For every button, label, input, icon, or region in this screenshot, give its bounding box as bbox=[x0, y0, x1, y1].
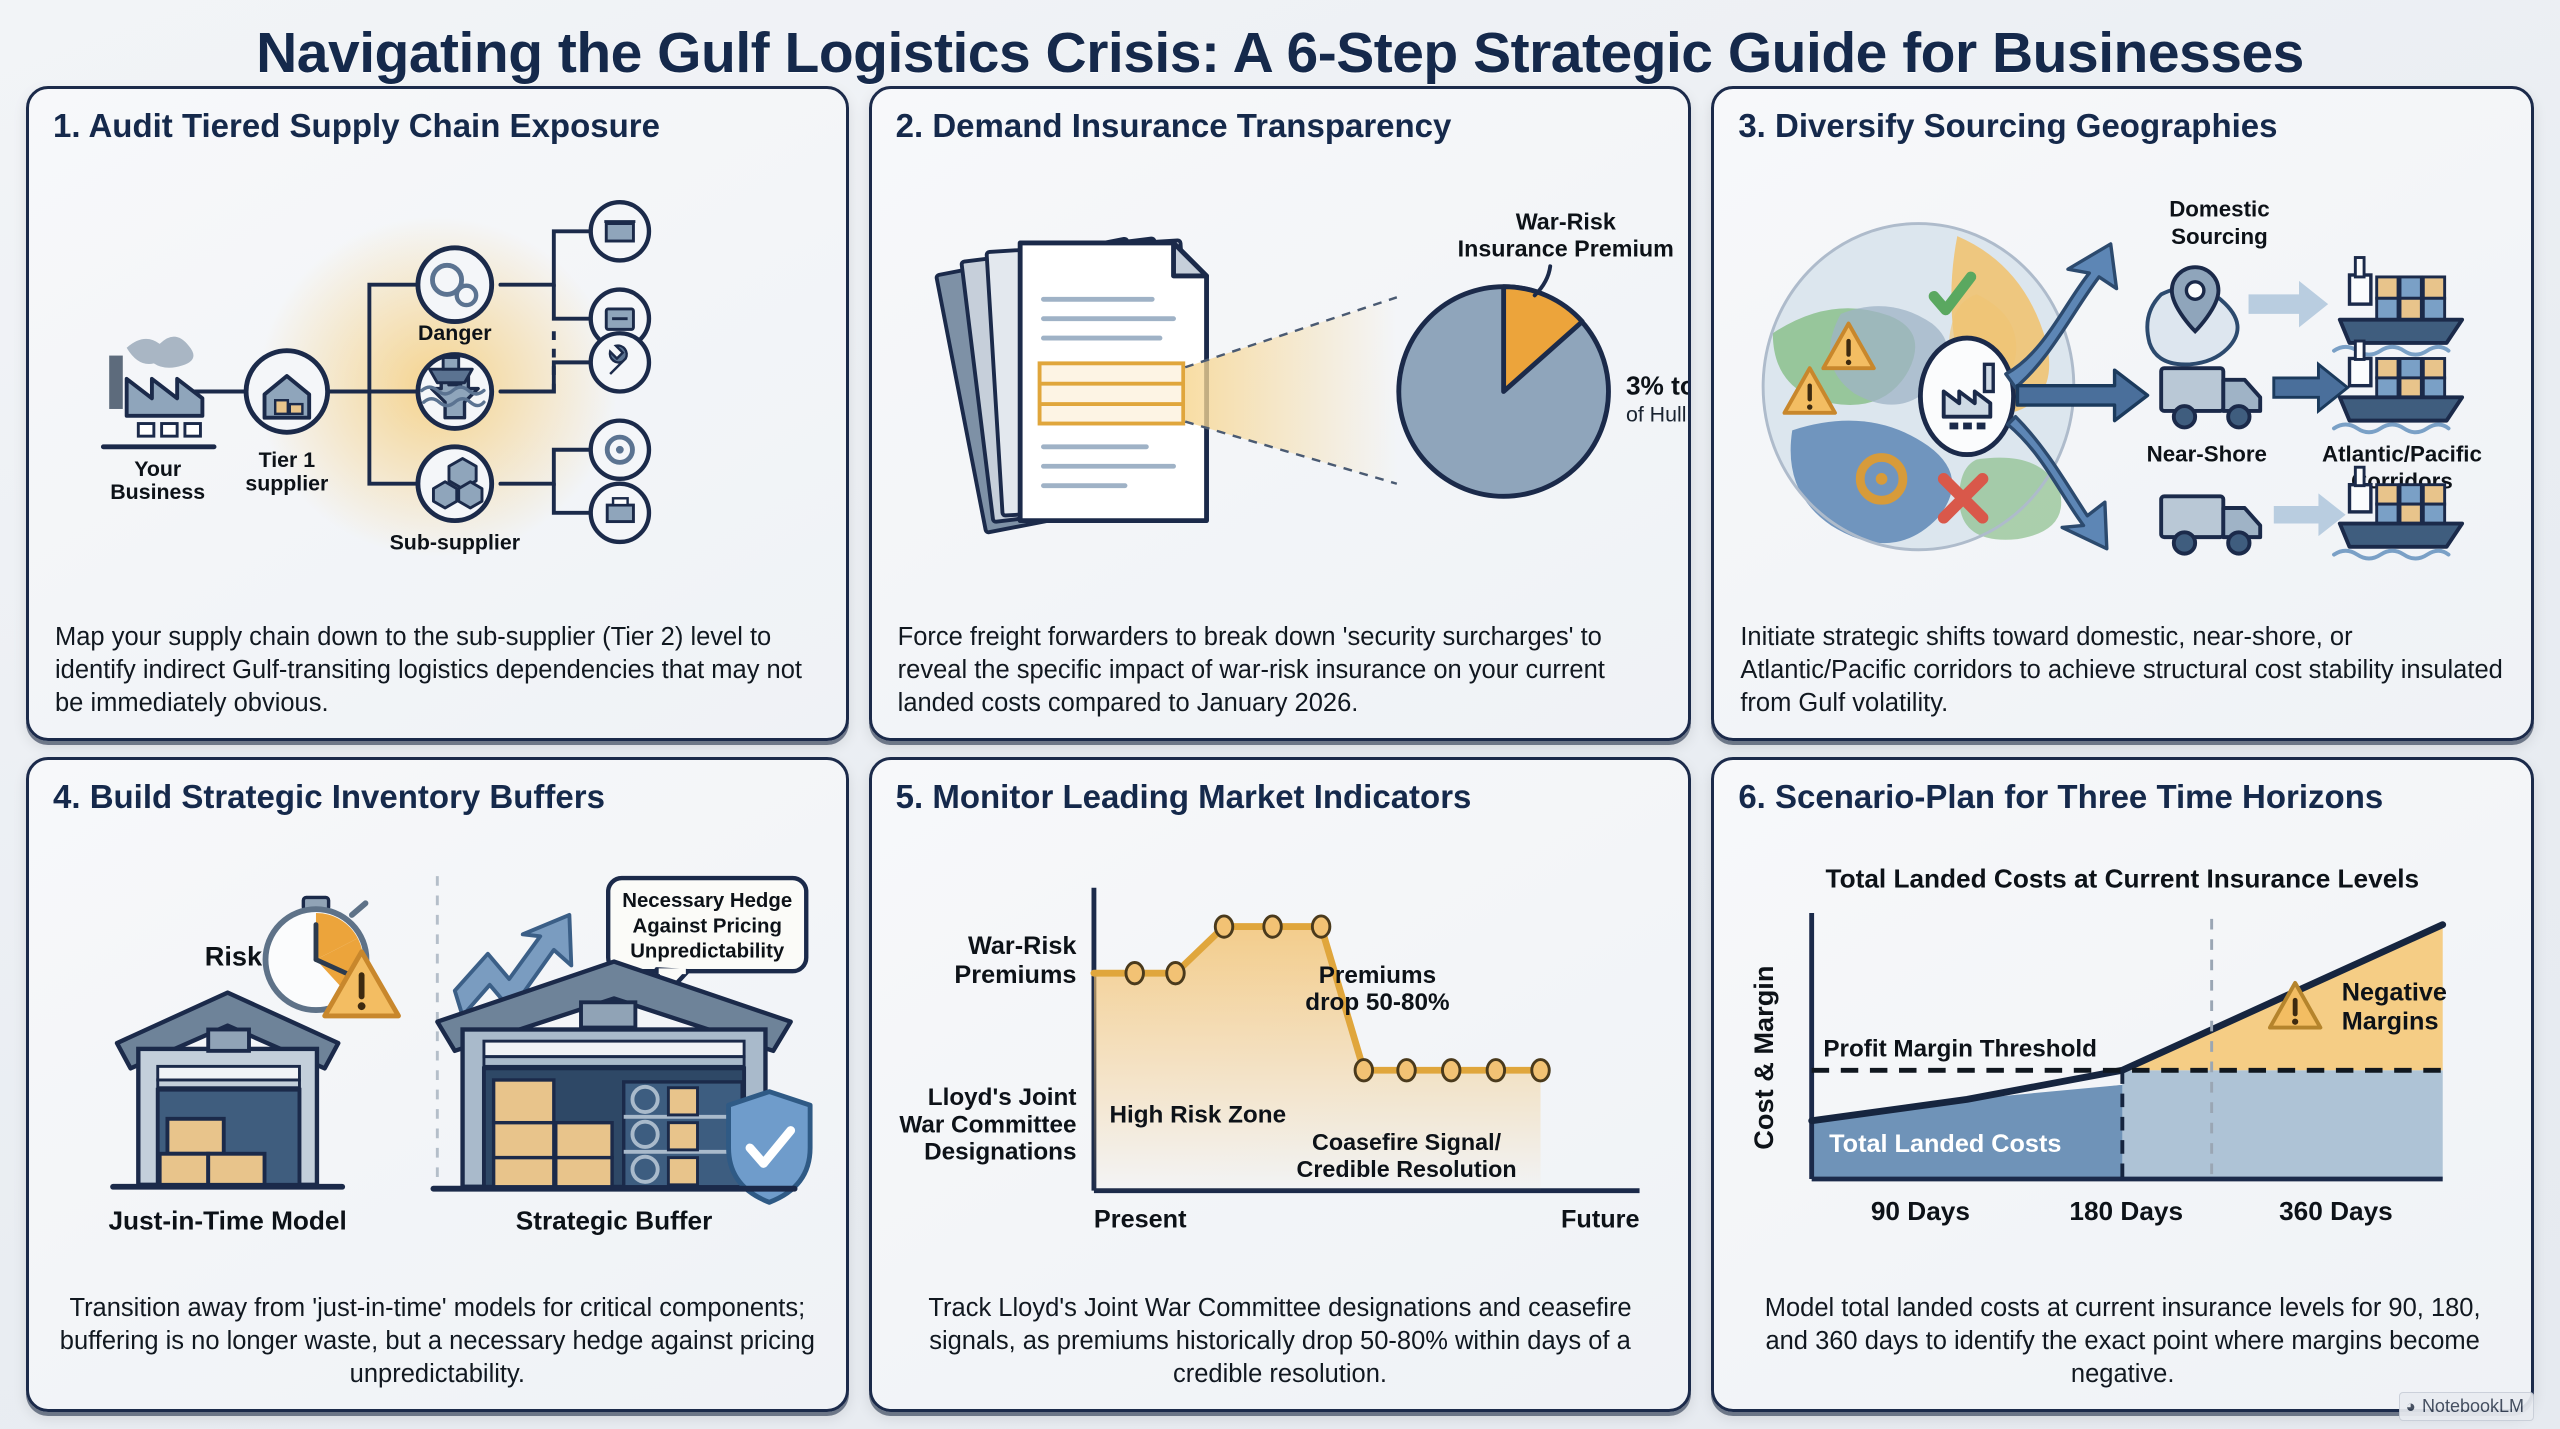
step-5-title: 5. Monitor Leading Market Indicators bbox=[896, 778, 1669, 816]
step-6-title: 6. Scenario-Plan for Three Time Horizons bbox=[1738, 778, 2511, 816]
tier-1-node: Tier 1 supplier bbox=[245, 351, 328, 496]
step-2-caption: Force freight forwarders to break down '… bbox=[892, 615, 1669, 728]
step-3-caption: Initiate strategic shifts toward domesti… bbox=[1734, 615, 2511, 728]
sub-supplier-label: Sub-supplier bbox=[390, 531, 520, 555]
building-icon bbox=[606, 224, 633, 241]
box-icon bbox=[494, 1080, 554, 1123]
x-tick-90-days: 90 Days bbox=[1871, 1196, 1970, 1226]
insurance-pie-svg: War-Risk Insurance Premium 3% to 7.5% of… bbox=[892, 149, 1669, 615]
callout-line3: Unpredictability bbox=[630, 941, 785, 963]
step-3-diagram: Domestic Sourcing bbox=[1734, 149, 2511, 615]
your-business-label-line2: Business bbox=[110, 480, 205, 504]
tier-1-label-line1: Tier 1 bbox=[259, 448, 316, 472]
your-business-label-line1: Your bbox=[134, 457, 181, 481]
step-4-caption: Transition away from 'just-in-time' mode… bbox=[49, 1286, 826, 1399]
negative-margins-label-line2: Margins bbox=[2342, 1007, 2439, 1035]
y-label-bottom-line2: War Committee bbox=[899, 1111, 1076, 1138]
y-label-bottom-line3: Designations bbox=[924, 1139, 1076, 1166]
scenario-plan-area-chart: Total Landed Costs at Current Insurance … bbox=[1734, 820, 2511, 1286]
tier-1-label-line2: supplier bbox=[245, 472, 328, 496]
your-business-node: Your Business bbox=[103, 337, 214, 505]
pie-label-line2: Insurance Premium bbox=[1457, 236, 1673, 262]
callout-line1: Necessary Hedge bbox=[622, 890, 792, 912]
container-ship-icon-1 bbox=[2334, 258, 2462, 355]
ship-waves-icon bbox=[430, 369, 473, 383]
x-tick-180-days: 180 Days bbox=[2070, 1196, 2184, 1226]
step-card-6[interactable]: 6. Scenario-Plan for Three Time Horizons… bbox=[1711, 757, 2534, 1412]
watermark-label: NotebookLM bbox=[2422, 1396, 2524, 1417]
box-icon bbox=[167, 1119, 223, 1154]
annotation-high-risk-zone: High Risk Zone bbox=[1109, 1102, 1286, 1129]
container-ship-icon-2 bbox=[2334, 341, 2462, 432]
domestic-label-line2: Sourcing bbox=[2171, 224, 2268, 249]
step-3-title: 3. Diversify Sourcing Geographies bbox=[1738, 107, 2511, 145]
step-2-diagram: War-Risk Insurance Premium 3% to 7.5% of… bbox=[892, 149, 1669, 615]
domestic-label-line1: Domestic bbox=[2170, 197, 2270, 222]
map-pin-icon bbox=[2148, 267, 2238, 364]
steps-grid: 1. Audit Tiered Supply Chain Exposure bbox=[0, 86, 2560, 1426]
x-label-future: Future bbox=[1561, 1206, 1640, 1234]
step-card-2[interactable]: 2. Demand Insurance Transparency bbox=[869, 86, 1692, 741]
factory-chimney bbox=[109, 356, 123, 409]
step-card-4[interactable]: 4. Build Strategic Inventory Buffers Ris… bbox=[26, 757, 849, 1412]
document-fold bbox=[1173, 243, 1206, 276]
strategic-buffer-group: Necessary Hedge Against Pricing Unpredic… bbox=[433, 878, 810, 1235]
x-label-present: Present bbox=[1094, 1206, 1187, 1234]
negative-margins-annotation: Negative Margins bbox=[2270, 978, 2447, 1035]
notebooklm-logo-icon: ◕ bbox=[2406, 1397, 2416, 1417]
step-5-chart: War-Risk Premiums Lloyd's Joint War Comm… bbox=[892, 820, 1669, 1286]
documents-stack-icon bbox=[936, 238, 1206, 533]
step-6-caption: Model total landed costs at current insu… bbox=[1734, 1286, 2511, 1399]
pie-value-label: 3% to 7.5% bbox=[1626, 370, 1692, 400]
printer-icon bbox=[607, 505, 633, 522]
pie-callout-leader bbox=[1534, 266, 1550, 295]
danger-label: Danger bbox=[418, 321, 492, 345]
truck-icon-2 bbox=[2161, 496, 2260, 553]
risk-badge: Risk bbox=[205, 940, 263, 971]
buffer-label: Strategic Buffer bbox=[516, 1205, 713, 1235]
arrow-small-2 bbox=[2274, 364, 2348, 411]
notebooklm-watermark: ◕ NotebookLM bbox=[2399, 1392, 2534, 1421]
globe-routes-svg: Domestic Sourcing bbox=[1734, 149, 2511, 615]
central-factory-node bbox=[1921, 338, 2014, 455]
step-4-title: 4. Build Strategic Inventory Buffers bbox=[53, 778, 826, 816]
y-label-top-line2: Premiums bbox=[954, 961, 1076, 989]
zoom-beam bbox=[1185, 297, 1397, 483]
y-label-top-line1: War-Risk bbox=[968, 932, 1077, 960]
step-5-caption: Track Lloyd's Joint War Committee design… bbox=[892, 1286, 1669, 1399]
sub-supplier-gears-node bbox=[418, 248, 492, 322]
step-card-5[interactable]: 5. Monitor Leading Market Indicators War… bbox=[869, 757, 1692, 1412]
negative-margins-label-line1: Negative bbox=[2342, 978, 2447, 1006]
annotation-ceasefire-line1: Coasefire Signal/ bbox=[1312, 1129, 1502, 1155]
step-1-diagram: Your Business Tier 1 supplier bbox=[49, 149, 826, 615]
step-card-1[interactable]: 1. Audit Tiered Supply Chain Exposure bbox=[26, 86, 849, 741]
truck-icon-1 bbox=[2161, 368, 2260, 427]
jit-label: Just-in-Time Model bbox=[108, 1205, 346, 1235]
arrow-small-3 bbox=[2274, 493, 2346, 536]
nearshore-label: Near-Shore bbox=[2147, 441, 2267, 466]
supply-chain-tree-svg: Your Business Tier 1 supplier bbox=[49, 149, 826, 615]
tier-2-leaf-icons bbox=[591, 202, 649, 542]
infographic-page: Navigating the Gulf Logistics Crisis: A … bbox=[0, 0, 2560, 1429]
shield-check-icon bbox=[729, 1092, 811, 1203]
y-label-bottom-line1: Lloyd's Joint bbox=[927, 1084, 1076, 1111]
highlighted-table bbox=[1039, 363, 1183, 423]
step-6-chart: Total Landed Costs at Current Insurance … bbox=[1734, 820, 2511, 1286]
annotation-ceasefire-line2: Credible Resolution bbox=[1296, 1156, 1516, 1182]
step-4-diagram: Risk bbox=[49, 820, 826, 1286]
just-in-time-group: Risk bbox=[108, 897, 398, 1235]
callout-line2: Against Pricing bbox=[632, 915, 781, 937]
market-indicators-line-chart: War-Risk Premiums Lloyd's Joint War Comm… bbox=[892, 820, 1669, 1286]
step-1-title: 1. Audit Tiered Supply Chain Exposure bbox=[53, 107, 826, 145]
step-card-3[interactable]: 3. Diversify Sourcing Geographies bbox=[1711, 86, 2534, 741]
factory-icon bbox=[127, 379, 203, 416]
arrow-small-1 bbox=[2249, 281, 2329, 328]
page-title: Navigating the Gulf Logistics Crisis: A … bbox=[0, 0, 2560, 86]
region-after-180-below-threshold bbox=[2123, 1070, 2443, 1179]
war-risk-pie-chart: War-Risk Insurance Premium 3% to 7.5% of… bbox=[1398, 208, 1691, 496]
profit-margin-threshold-label: Profit Margin Threshold bbox=[1824, 1036, 2098, 1063]
warehouse-comparison-svg: Risk bbox=[49, 820, 826, 1286]
annotation-premium-drop-line2: drop 50-80% bbox=[1305, 989, 1449, 1016]
total-landed-costs-label: Total Landed Costs bbox=[1829, 1130, 2061, 1158]
annotation-premium-drop-line1: Premiums bbox=[1318, 962, 1435, 989]
corridors-label-line1: Atlantic/Pacific bbox=[2322, 441, 2482, 466]
chart-title: Total Landed Costs at Current Insurance … bbox=[1826, 864, 2420, 894]
step-2-title: 2. Demand Insurance Transparency bbox=[896, 107, 1669, 145]
step-1-caption: Map your supply chain down to the sub-su… bbox=[49, 615, 826, 728]
pie-value-sublabel: of Hull Value bbox=[1626, 403, 1692, 427]
pie-label-line1: War-Risk bbox=[1515, 208, 1615, 234]
x-tick-360-days: 360 Days bbox=[2279, 1196, 2393, 1226]
y-axis-label: Cost & Margin bbox=[1748, 966, 1779, 1150]
smoke-icon bbox=[127, 337, 194, 368]
